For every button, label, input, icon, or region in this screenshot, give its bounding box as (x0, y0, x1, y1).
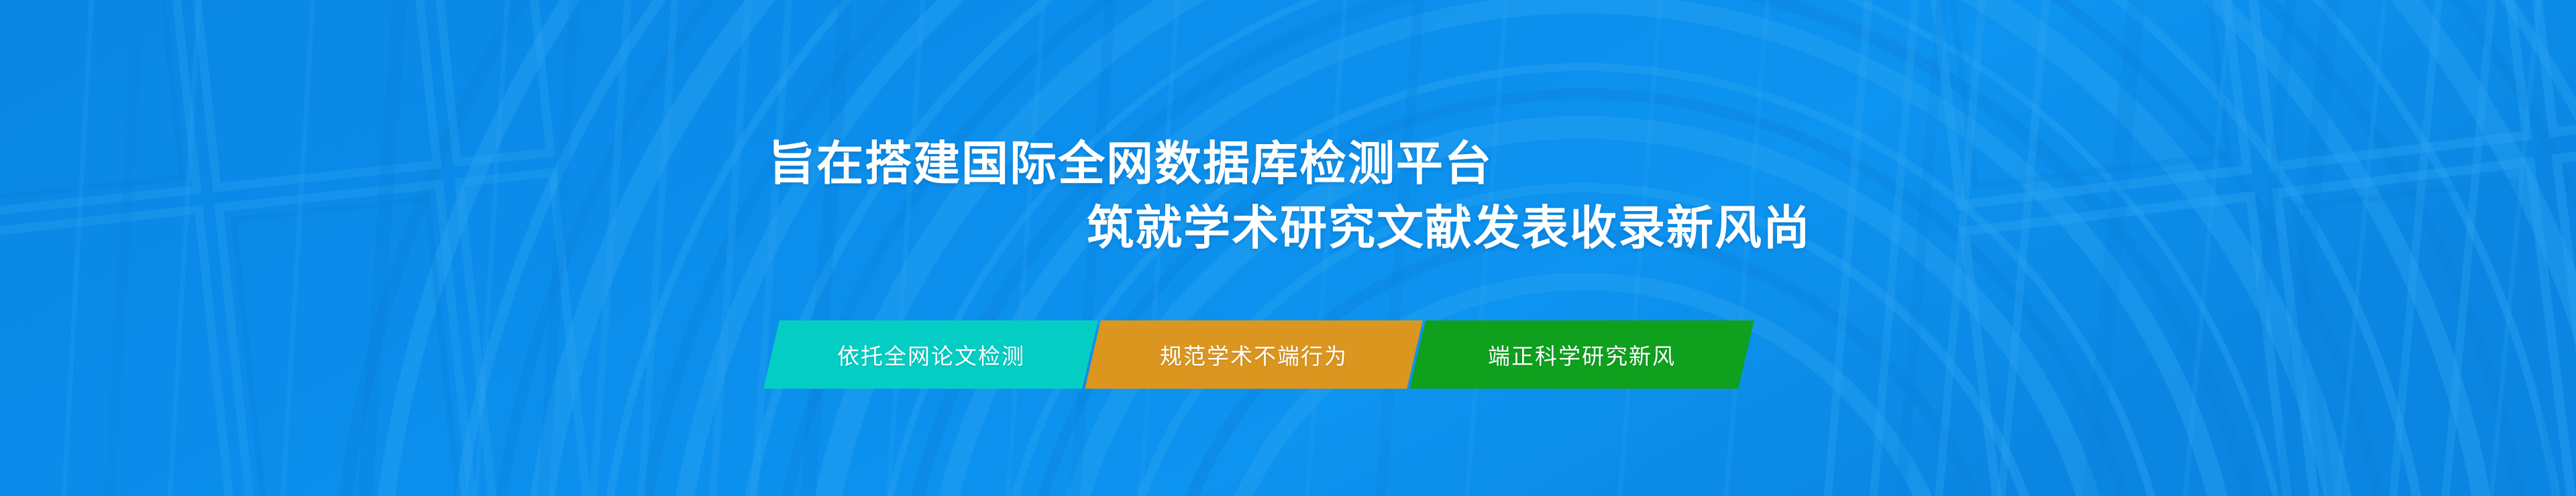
headline-line-2: 筑就学术研究文献发表收录新风尚 (0, 196, 1819, 260)
headline-line-1: 旨在搭建国际全网数据库检测平台 (0, 131, 1819, 196)
feature-tag-label: 依托全网论文检测 (837, 338, 1025, 371)
headline-block: 旨在搭建国际全网数据库检测平台 筑就学术研究文献发表收录新风尚 (0, 131, 1819, 260)
feature-tag-plagiarism-check[interactable]: 依托全网论文检测 (763, 320, 1098, 389)
feature-tag-strip: 依托全网论文检测 规范学术不端行为 端正科学研究新风 (771, 320, 1746, 389)
feature-tag-research-ethics[interactable]: 端正科学研究新风 (1409, 320, 1754, 389)
feature-tag-misconduct-regulation[interactable]: 规范学术不端行为 (1085, 320, 1423, 389)
promotional-banner: 旨在搭建国际全网数据库检测平台 筑就学术研究文献发表收录新风尚 依托全网论文检测… (0, 0, 2576, 496)
feature-tag-label: 端正科学研究新风 (1488, 338, 1676, 371)
feature-tag-label: 规范学术不端行为 (1160, 338, 1348, 371)
